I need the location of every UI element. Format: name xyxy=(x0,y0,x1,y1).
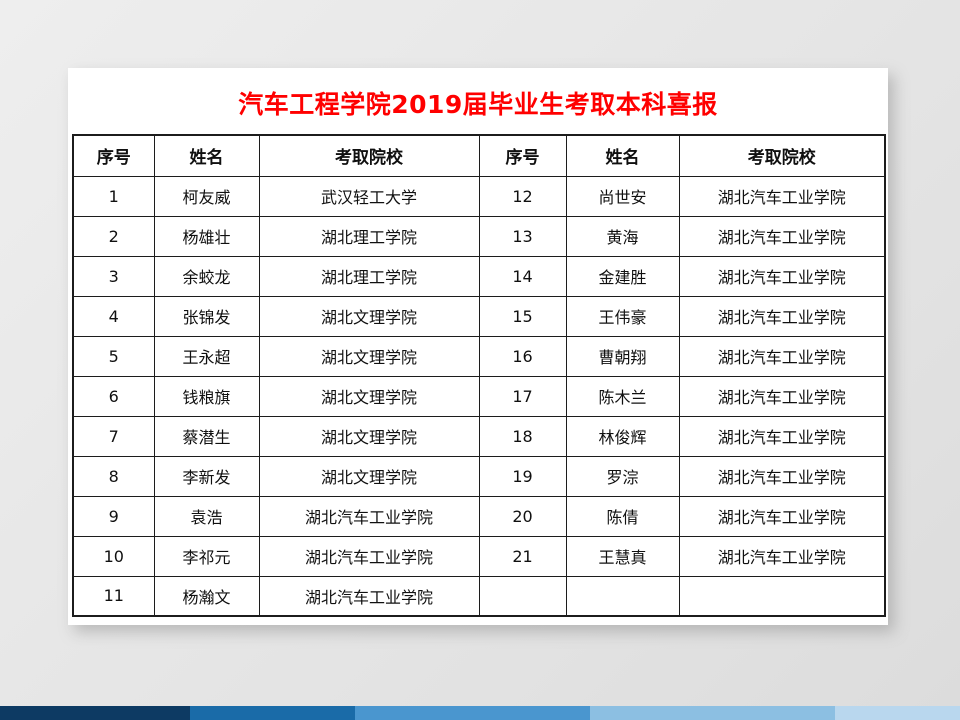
cell-no-right: 19 xyxy=(479,456,566,496)
cell-name-right: 陈倩 xyxy=(566,496,679,536)
cell-name-right xyxy=(566,576,679,616)
cell-school-right xyxy=(679,576,885,616)
cell-name-right: 曹朝翔 xyxy=(566,336,679,376)
table-row: 10李祁元湖北汽车工业学院21王慧真湖北汽车工业学院 xyxy=(73,536,885,576)
page-title: 汽车工程学院2019届毕业生考取本科喜报 xyxy=(68,68,888,117)
table-row: 2杨雄壮湖北理工学院13黄海湖北汽车工业学院 xyxy=(73,216,885,256)
table-body: 1柯友威武汉轻工大学12尚世安湖北汽车工业学院2杨雄壮湖北理工学院13黄海湖北汽… xyxy=(73,176,885,616)
column-header-name-right: 姓名 xyxy=(566,135,679,176)
cell-school-right: 湖北汽车工业学院 xyxy=(679,336,885,376)
cell-no-left: 9 xyxy=(73,496,154,536)
cell-school-left: 湖北理工学院 xyxy=(259,256,479,296)
cell-name-right: 王慧真 xyxy=(566,536,679,576)
cell-name-right: 罗淙 xyxy=(566,456,679,496)
cell-school-left: 湖北文理学院 xyxy=(259,336,479,376)
cell-name-right: 金建胜 xyxy=(566,256,679,296)
cell-name-left: 杨瀚文 xyxy=(154,576,259,616)
cell-no-right: 12 xyxy=(479,176,566,216)
segment-light-blue xyxy=(590,706,835,720)
cell-name-left: 王永超 xyxy=(154,336,259,376)
cell-no-left: 4 xyxy=(73,296,154,336)
cell-school-right: 湖北汽车工业学院 xyxy=(679,216,885,256)
table-row: 3余蛟龙湖北理工学院14金建胜湖北汽车工业学院 xyxy=(73,256,885,296)
cell-name-left: 钱粮旗 xyxy=(154,376,259,416)
slide-card: 汽车工程学院2019届毕业生考取本科喜报 序号 姓名 考取院校 序号 姓名 考取… xyxy=(68,68,888,625)
table-row: 5王永超湖北文理学院16曹朝翔湖北汽车工业学院 xyxy=(73,336,885,376)
bottom-decorative-bar xyxy=(0,706,960,720)
table-row: 6钱粮旗湖北文理学院17陈木兰湖北汽车工业学院 xyxy=(73,376,885,416)
cell-no-right: 15 xyxy=(479,296,566,336)
cell-name-left: 袁浩 xyxy=(154,496,259,536)
table-row: 8李新发湖北文理学院19罗淙湖北汽车工业学院 xyxy=(73,456,885,496)
cell-school-right: 湖北汽车工业学院 xyxy=(679,416,885,456)
cell-no-right: 21 xyxy=(479,536,566,576)
cell-no-right: 17 xyxy=(479,376,566,416)
cell-no-right: 16 xyxy=(479,336,566,376)
cell-no-left: 8 xyxy=(73,456,154,496)
column-header-no-right: 序号 xyxy=(479,135,566,176)
cell-no-left: 11 xyxy=(73,576,154,616)
cell-name-left: 柯友威 xyxy=(154,176,259,216)
cell-no-left: 3 xyxy=(73,256,154,296)
cell-name-left: 张锦发 xyxy=(154,296,259,336)
graduates-results-table: 序号 姓名 考取院校 序号 姓名 考取院校 1柯友威武汉轻工大学12尚世安湖北汽… xyxy=(72,134,886,617)
cell-school-left: 湖北文理学院 xyxy=(259,296,479,336)
cell-school-right: 湖北汽车工业学院 xyxy=(679,256,885,296)
cell-no-left: 10 xyxy=(73,536,154,576)
cell-no-right xyxy=(479,576,566,616)
cell-no-right: 20 xyxy=(479,496,566,536)
table-row: 7蔡潜生湖北文理学院18林俊辉湖北汽车工业学院 xyxy=(73,416,885,456)
cell-no-right: 18 xyxy=(479,416,566,456)
cell-no-left: 7 xyxy=(73,416,154,456)
cell-name-left: 李新发 xyxy=(154,456,259,496)
results-table-container: 序号 姓名 考取院校 序号 姓名 考取院校 1柯友威武汉轻工大学12尚世安湖北汽… xyxy=(72,134,884,617)
cell-no-left: 5 xyxy=(73,336,154,376)
segment-dark-blue xyxy=(190,706,355,720)
table-header-row: 序号 姓名 考取院校 序号 姓名 考取院校 xyxy=(73,135,885,176)
cell-name-left: 李祁元 xyxy=(154,536,259,576)
cell-no-right: 14 xyxy=(479,256,566,296)
cell-school-left: 湖北文理学院 xyxy=(259,416,479,456)
cell-school-left: 武汉轻工大学 xyxy=(259,176,479,216)
cell-name-left: 蔡潜生 xyxy=(154,416,259,456)
cell-school-right: 湖北汽车工业学院 xyxy=(679,496,885,536)
cell-school-left: 湖北汽车工业学院 xyxy=(259,496,479,536)
cell-school-right: 湖北汽车工业学院 xyxy=(679,296,885,336)
cell-name-right: 林俊辉 xyxy=(566,416,679,456)
cell-school-left: 湖北理工学院 xyxy=(259,216,479,256)
cell-name-left: 杨雄壮 xyxy=(154,216,259,256)
cell-school-left: 湖北文理学院 xyxy=(259,456,479,496)
cell-school-right: 湖北汽车工业学院 xyxy=(679,176,885,216)
cell-school-right: 湖北汽车工业学院 xyxy=(679,456,885,496)
cell-name-right: 尚世安 xyxy=(566,176,679,216)
segment-pale-blue xyxy=(835,706,960,720)
table-row: 11杨瀚文湖北汽车工业学院 xyxy=(73,576,885,616)
cell-school-left: 湖北汽车工业学院 xyxy=(259,576,479,616)
segment-medium-blue xyxy=(355,706,590,720)
cell-school-left: 湖北文理学院 xyxy=(259,376,479,416)
table-row: 4张锦发湖北文理学院15王伟豪湖北汽车工业学院 xyxy=(73,296,885,336)
column-header-school-right: 考取院校 xyxy=(679,135,885,176)
cell-no-right: 13 xyxy=(479,216,566,256)
segment-navy xyxy=(0,706,190,720)
cell-name-right: 陈木兰 xyxy=(566,376,679,416)
cell-name-right: 黄海 xyxy=(566,216,679,256)
column-header-name-left: 姓名 xyxy=(154,135,259,176)
cell-name-left: 余蛟龙 xyxy=(154,256,259,296)
cell-school-left: 湖北汽车工业学院 xyxy=(259,536,479,576)
cell-school-right: 湖北汽车工业学院 xyxy=(679,536,885,576)
cell-school-right: 湖北汽车工业学院 xyxy=(679,376,885,416)
cell-no-left: 6 xyxy=(73,376,154,416)
column-header-no-left: 序号 xyxy=(73,135,154,176)
table-row: 9袁浩湖北汽车工业学院20陈倩湖北汽车工业学院 xyxy=(73,496,885,536)
cell-no-left: 2 xyxy=(73,216,154,256)
table-row: 1柯友威武汉轻工大学12尚世安湖北汽车工业学院 xyxy=(73,176,885,216)
cell-no-left: 1 xyxy=(73,176,154,216)
table-header: 序号 姓名 考取院校 序号 姓名 考取院校 xyxy=(73,135,885,176)
column-header-school-left: 考取院校 xyxy=(259,135,479,176)
cell-name-right: 王伟豪 xyxy=(566,296,679,336)
